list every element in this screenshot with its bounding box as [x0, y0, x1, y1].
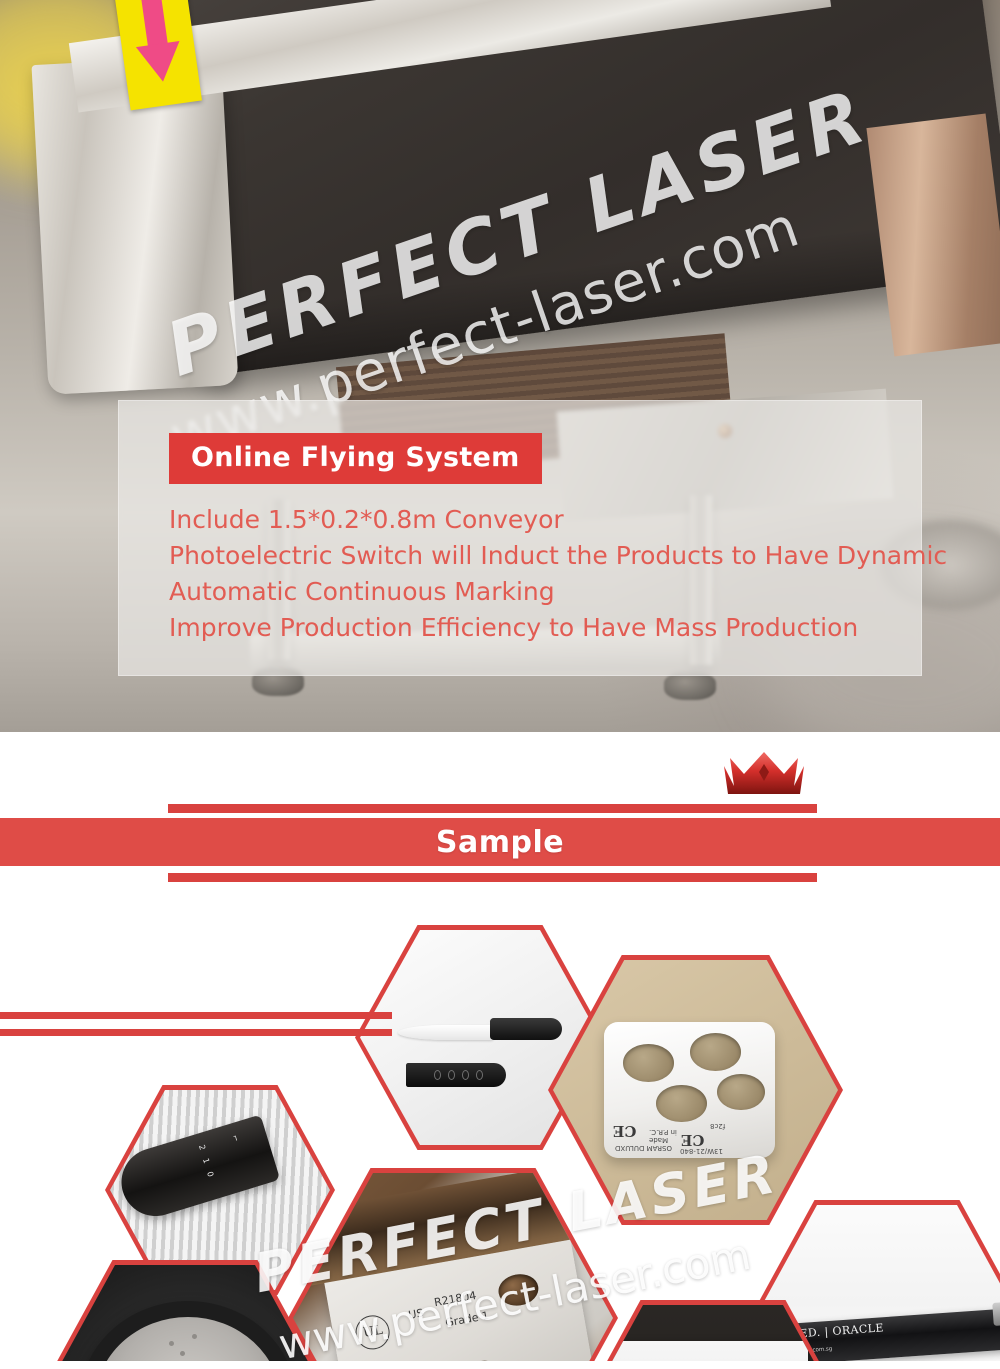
sample-hex-grid: CE CE OSRAM DULUXD 13W/21-840 Made in P.…: [0, 900, 1000, 1361]
ul-logo-icon: UL: [353, 1312, 392, 1351]
cart-caster: [664, 672, 716, 700]
info-feature-line: Improve Production Efficiency to Have Ma…: [169, 610, 899, 646]
stalk-marking: 1: [202, 1157, 212, 1165]
pan-speckle: [169, 1341, 174, 1346]
sheath-vent: [476, 1070, 483, 1080]
accent-guide-line: [0, 1012, 392, 1019]
pan-speckle: [180, 1351, 185, 1356]
accent-guide-line: [0, 1029, 392, 1036]
lamp-hole: [690, 1033, 741, 1071]
ul-marking-grade: Grade 1: [444, 1309, 490, 1329]
pan-speckle: [192, 1334, 197, 1339]
lamp-hole: [623, 1044, 674, 1082]
lamp-marking-line: Made: [649, 1136, 668, 1144]
knife-handle: [490, 1018, 562, 1040]
sample-photo-osram-lamp-base: CE CE OSRAM DULUXD 13W/21-840 Made in P.…: [553, 960, 838, 1220]
ul-marking-code: R21804: [433, 1289, 477, 1309]
conveyor-end-cap: [866, 114, 1000, 357]
info-feature-line: Include 1.5*0.2*0.8m Conveyor: [169, 502, 899, 538]
lamp-marking-line: OSRAM DULUXD: [615, 1144, 672, 1152]
info-feature-line: Photoelectric Switch will Induct the Pro…: [169, 538, 899, 574]
sample-banner-title: Sample: [0, 818, 1000, 866]
arrow-head: [136, 41, 185, 85]
knife-sheath: [406, 1063, 507, 1087]
wiper-symbol-icon: ⌐: [231, 1134, 242, 1143]
info-feature-list: Include 1.5*0.2*0.8m Conveyor Photoelect…: [169, 502, 899, 646]
banner-accent-bar-top: [168, 804, 817, 813]
sample-hex-osram-lamp-base[interactable]: CE CE OSRAM DULUXD 13W/21-840 Made in P.…: [548, 955, 843, 1225]
pen-clip: [993, 1301, 1000, 1326]
ce-mark-icon: CE: [613, 1122, 636, 1140]
lamp-hole: [656, 1085, 707, 1123]
ul-marking-us: US: [407, 1306, 424, 1321]
stalk-marking: 0: [206, 1170, 216, 1178]
plate-hole: [496, 1271, 541, 1308]
stalk-marking: 2: [197, 1143, 207, 1151]
hero-product-photo: PERFECT LASER www.perfect-laser.com Onli…: [0, 0, 1000, 732]
lamp-hole: [717, 1074, 765, 1111]
lamp-marking-line: f2c8: [710, 1122, 725, 1130]
switch-plate: ON ON: [612, 1341, 808, 1361]
lamp-base-body: CE CE OSRAM DULUXD 13W/21-840 Made in P.…: [604, 1022, 775, 1157]
lamp-marking-line: in P.R.C.: [649, 1128, 677, 1136]
sample-photo-ul-plate: UL c US R21804 Grade 1 18EY: [293, 1173, 613, 1361]
sheath-vent: [462, 1070, 469, 1080]
sheath-vent: [434, 1070, 441, 1080]
sheath-vent: [448, 1070, 455, 1080]
info-overlay-panel: Online Flying System Include 1.5*0.2*0.8…: [118, 400, 922, 676]
knife-blade: [398, 1025, 494, 1040]
info-feature-line: Automatic Continuous Marking: [169, 574, 899, 610]
wiper-stalk-body: 2 1 0 ⌐: [113, 1114, 280, 1224]
ce-mark-icon: CE: [681, 1131, 704, 1149]
banner-accent-bar-bottom: [168, 873, 817, 882]
pan-rim: [79, 1301, 297, 1361]
lamp-marking-line: 13W/21-840: [680, 1147, 723, 1155]
crown-icon: [720, 750, 808, 796]
sample-hex-ul-plate[interactable]: UL c US R21804 Grade 1 18EY: [288, 1168, 618, 1361]
info-badge-title: Online Flying System: [169, 433, 542, 484]
sample-banner: Sample: [0, 818, 1000, 866]
